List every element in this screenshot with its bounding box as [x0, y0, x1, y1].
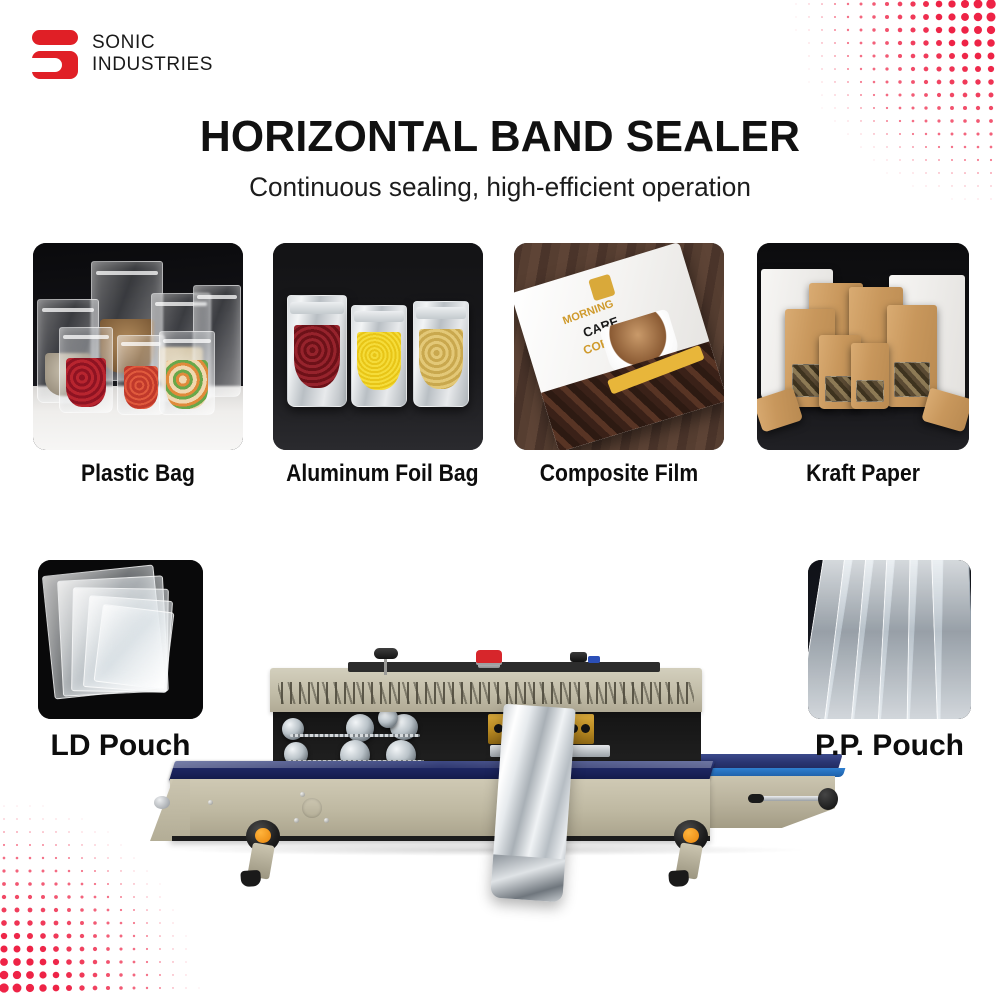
- belt-highlight: [171, 761, 713, 768]
- vent-grille: [278, 682, 694, 704]
- material-card-composite-film[interactable]: MORNING CARE COFFEE Composite Film: [514, 243, 724, 488]
- panel-screw: [208, 800, 213, 805]
- material-card-ld-pouch[interactable]: LD Pouch: [38, 560, 203, 763]
- material-card-kraft-paper[interactable]: Kraft Paper: [757, 243, 969, 488]
- headings-block: HORIZONTAL BAND SEALER Continuous sealin…: [0, 112, 1000, 203]
- material-card-label: Aluminum Foil Bag: [286, 460, 478, 488]
- indicator-light: [588, 656, 600, 663]
- output-conveyor-body: [695, 776, 835, 828]
- page-subtitle: Continuous sealing, high-efficient opera…: [15, 172, 985, 203]
- pp-pouch-image: [808, 560, 971, 719]
- panel-screw: [324, 818, 329, 823]
- kraft-paper-image: [757, 243, 969, 450]
- material-card-label: P.P. Pouch: [808, 729, 971, 763]
- panel-screw: [300, 792, 305, 797]
- brand-logo: SONIC INDUSTRIES: [32, 28, 213, 80]
- output-end-knob[interactable]: [818, 788, 838, 810]
- temperature-knob[interactable]: [570, 652, 587, 662]
- material-card-label: Kraft Paper: [770, 460, 957, 488]
- sonic-s-logo-icon: [32, 28, 78, 80]
- material-card-pp-pouch[interactable]: P.P. Pouch: [808, 560, 971, 763]
- brand-line-1: SONIC: [92, 32, 213, 54]
- access-plate: [302, 798, 322, 818]
- output-adjust-rod: [758, 796, 820, 801]
- material-card-label: Composite Film: [527, 460, 712, 488]
- page-title: HORIZONTAL BAND SEALER: [15, 112, 985, 162]
- right-support-foot: [675, 842, 703, 879]
- sealing-belt: [290, 734, 420, 737]
- material-card-label: LD Pouch: [38, 729, 203, 763]
- band-sealer-machine: [150, 648, 860, 898]
- ld-pouch-image: [38, 560, 203, 719]
- output-rod-collar: [748, 794, 764, 803]
- composite-film-image: MORNING CARE COFFEE: [514, 243, 724, 450]
- drive-bay: [273, 710, 701, 766]
- aluminum-foil-bag-image: [273, 243, 483, 450]
- plastic-bag-image: [33, 243, 243, 450]
- material-card-aluminum-foil-bag[interactable]: Aluminum Foil Bag: [273, 243, 492, 488]
- brand-line-2: INDUSTRIES: [92, 54, 213, 76]
- top-control-rail: [348, 662, 660, 672]
- material-card-plastic-bag[interactable]: Plastic Bag: [33, 243, 243, 488]
- height-adjust-knob[interactable]: [374, 648, 398, 659]
- sealed-foil-pouch-output: [490, 704, 575, 903]
- drive-roller: [346, 714, 374, 742]
- brand-wordmark: SONIC INDUSTRIES: [92, 32, 213, 76]
- machine-base-left-bevel: [150, 779, 190, 841]
- left-support-foot: [247, 842, 275, 879]
- panel-screw: [294, 818, 299, 823]
- left-end-cap: [154, 796, 170, 809]
- material-card-label: Plastic Bag: [46, 460, 231, 488]
- emergency-stop-button[interactable]: [476, 650, 502, 663]
